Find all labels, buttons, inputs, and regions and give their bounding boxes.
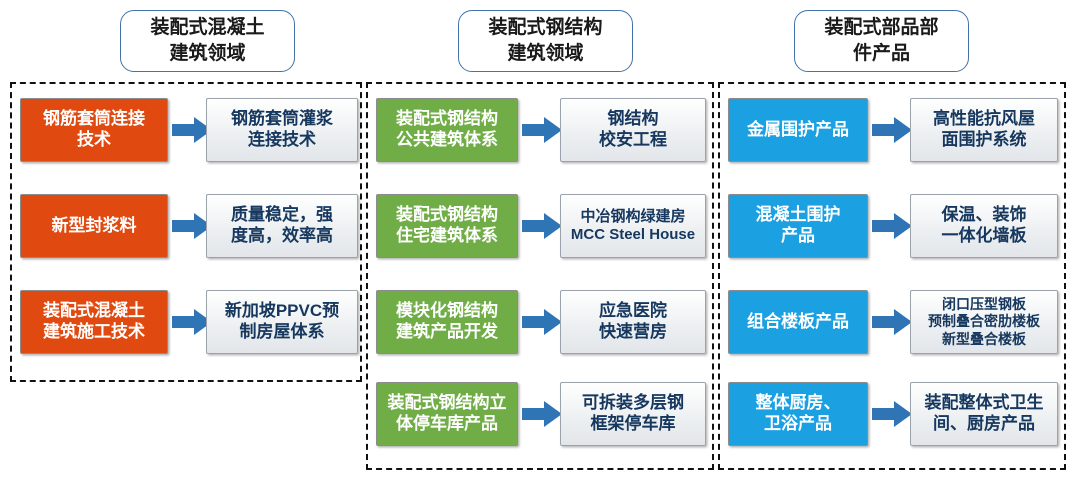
node-source-component-3[interactable]: 组合楼板产品	[728, 290, 868, 354]
node-target-steel-1[interactable]: 钢结构 校安工程	[560, 98, 706, 162]
arrow-component-1	[872, 117, 912, 143]
header-pill-component-products: 装配式部品部 件产品	[794, 10, 969, 72]
node-source-steel-2[interactable]: 装配式钢结构 住宅建筑体系	[376, 194, 518, 258]
node-target-steel-3[interactable]: 应急医院 快速营房	[560, 290, 706, 354]
arrow-steel-3	[522, 309, 562, 335]
node-target-component-2[interactable]: 保温、装饰 一体化墙板	[910, 194, 1058, 258]
arrow-component-3	[872, 309, 912, 335]
arrow-component-4	[872, 401, 912, 427]
arrow-steel-1	[522, 117, 562, 143]
node-target-component-4[interactable]: 装配整体式卫生 间、厨房产品	[910, 382, 1058, 446]
node-source-component-2[interactable]: 混凝土围护 产品	[728, 194, 868, 258]
node-source-steel-3[interactable]: 模块化钢结构 建筑产品开发	[376, 290, 518, 354]
arrow-steel-2	[522, 213, 562, 239]
node-target-concrete-2[interactable]: 质量稳定，强 度高，效率高	[206, 194, 358, 258]
arrow-steel-4	[522, 401, 562, 427]
node-source-steel-4[interactable]: 装配式钢结构立 体停车库产品	[376, 382, 518, 446]
node-source-component-1[interactable]: 金属围护产品	[728, 98, 868, 162]
node-target-steel-4[interactable]: 可拆装多层钢 框架停车库	[560, 382, 706, 446]
header-pill-precast-concrete: 装配式混凝土 建筑领域	[120, 10, 295, 72]
header-pill-steel-structure: 装配式钢结构 建筑领域	[458, 10, 633, 72]
node-target-component-1[interactable]: 高性能抗风屋 面围护系统	[910, 98, 1058, 162]
arrow-component-2	[872, 213, 912, 239]
node-source-concrete-2[interactable]: 新型封浆料	[20, 194, 168, 258]
node-source-component-4[interactable]: 整体厨房、 卫浴产品	[728, 382, 868, 446]
diagram-canvas: 装配式混凝土 建筑领域 装配式钢结构 建筑领域 装配式部品部 件产品 钢筋套筒连…	[0, 0, 1074, 479]
node-target-concrete-3[interactable]: 新加坡PPVC预 制房屋体系	[206, 290, 358, 354]
node-source-steel-1[interactable]: 装配式钢结构 公共建筑体系	[376, 98, 518, 162]
node-target-concrete-1[interactable]: 钢筋套筒灌浆 连接技术	[206, 98, 358, 162]
node-target-component-3[interactable]: 闭口压型钢板 预制叠合密肋楼板 新型叠合楼板	[910, 290, 1058, 354]
node-target-steel-2[interactable]: 中冶钢构绿建房 MCC Steel House	[560, 194, 706, 258]
node-source-concrete-3[interactable]: 装配式混凝土 建筑施工技术	[20, 290, 168, 354]
node-source-concrete-1[interactable]: 钢筋套筒连接 技术	[20, 98, 168, 162]
